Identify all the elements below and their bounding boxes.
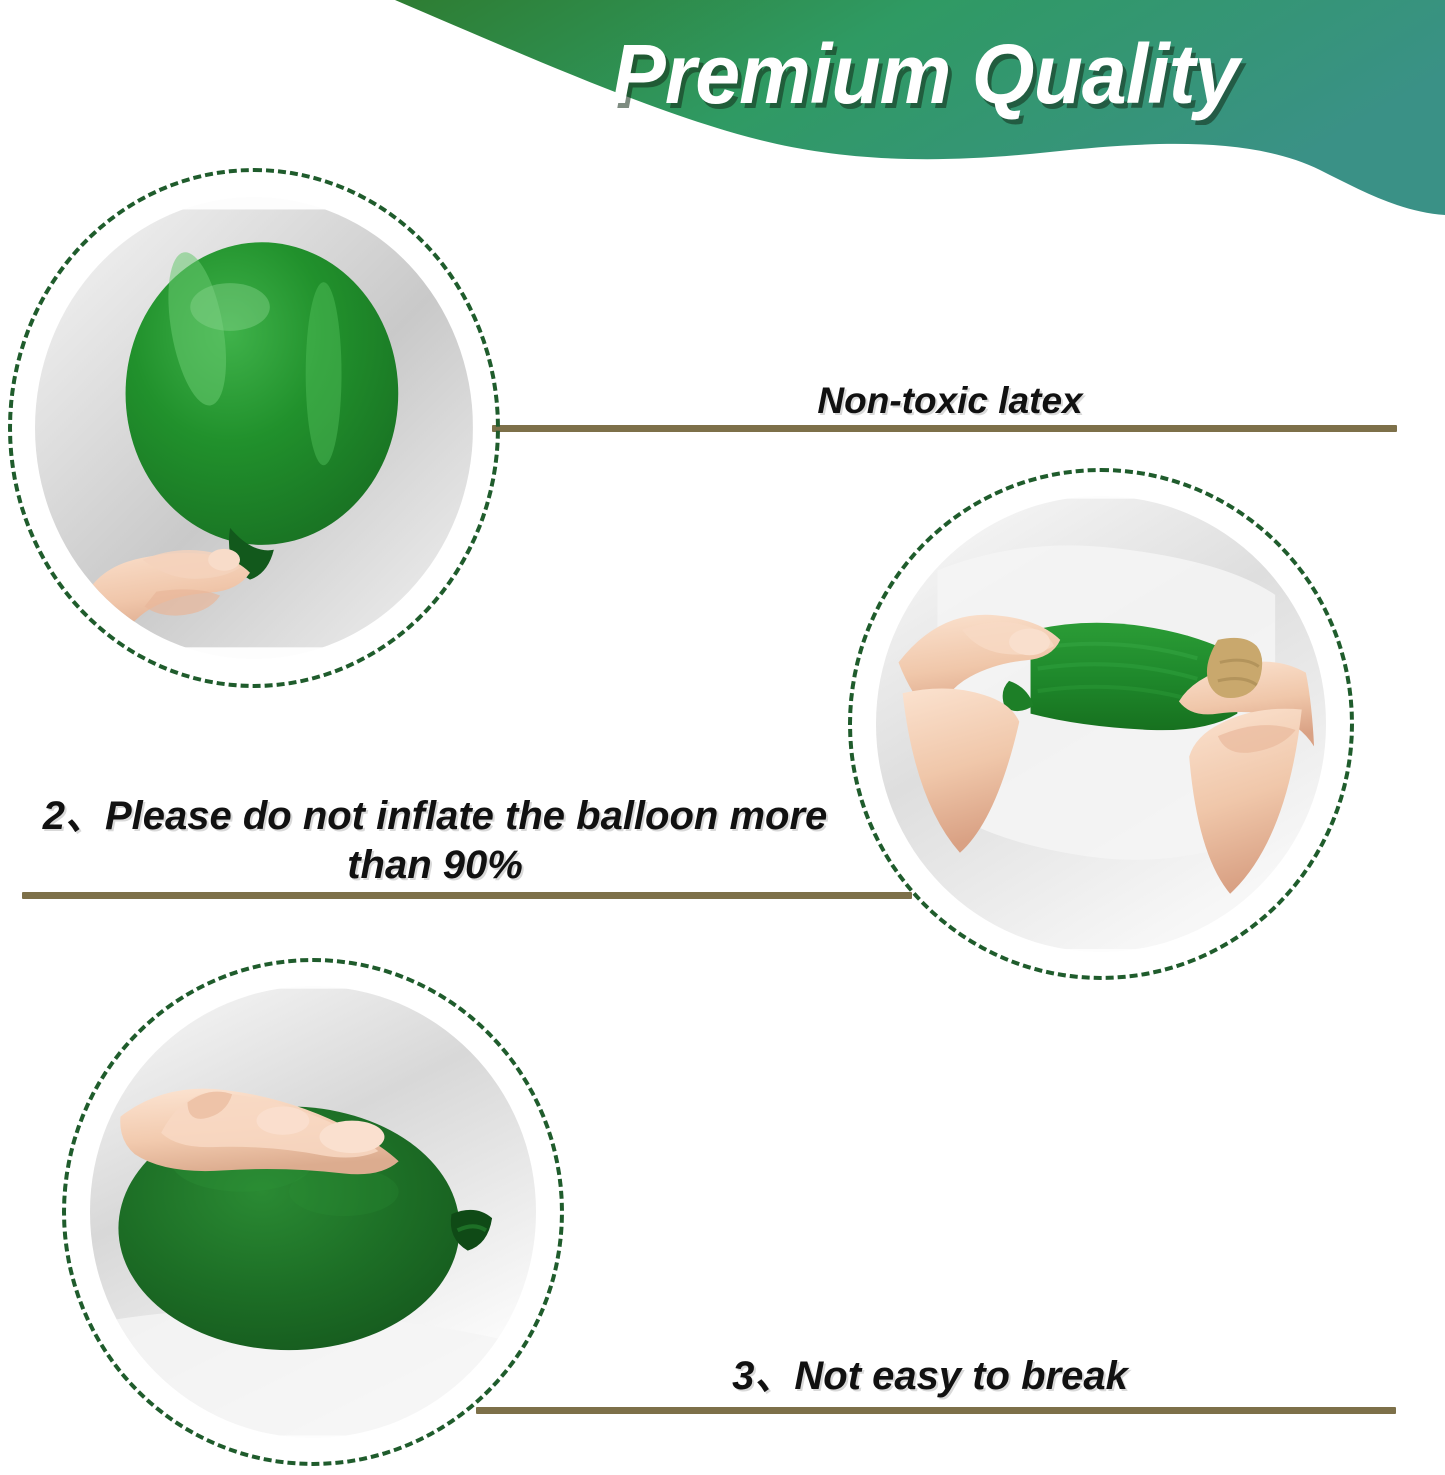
divider-line-non-toxic-latex: [492, 425, 1397, 432]
feature-image-non-toxic-latex: [8, 168, 500, 688]
feature-caption-non-toxic-latex: Non-toxic latex: [700, 378, 1200, 423]
photo-non-toxic-latex: [35, 197, 473, 660]
infographic-canvas: Premium Quality: [0, 0, 1445, 1475]
feature-caption-not-easy-to-break: 3、Not easy to break: [620, 1352, 1240, 1401]
photo-not-easy-to-break: [90, 986, 537, 1438]
divider-line-not-easy-to-break: [476, 1407, 1396, 1414]
divider-line-inflate-limit: [22, 892, 912, 899]
feature-caption-inflate-limit: 2、Please do not inflate the balloon more…: [10, 792, 860, 890]
feature-image-inflate-limit: [848, 468, 1354, 980]
hand-pressing-balloon-illustration: [90, 986, 537, 1438]
photo-inflate-limit: [876, 496, 1326, 952]
feature-image-not-easy-to-break: [62, 958, 564, 1466]
hands-stretching-latex-illustration: [876, 496, 1326, 952]
page-title: Premium Quality: [612, 32, 1409, 116]
balloon-in-hand-illustration: [35, 197, 473, 660]
